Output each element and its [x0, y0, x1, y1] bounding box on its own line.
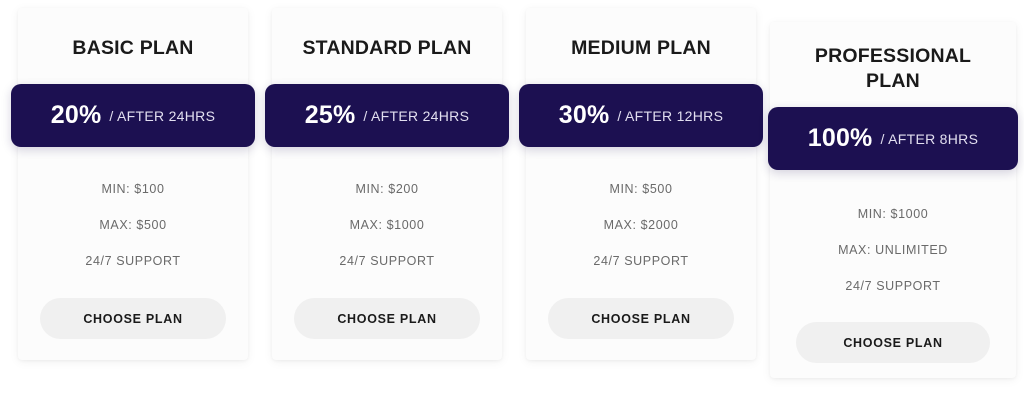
pricing-plans-container: BASIC PLAN 20% / AFTER 24HRS MIN: $100 M… — [0, 0, 1024, 402]
plan-price-badge: 20% / AFTER 24HRS — [11, 84, 255, 147]
plan-feature-min: MIN: $100 — [18, 180, 248, 198]
plan-price-amount: 25% — [305, 101, 356, 130]
choose-plan-button[interactable]: CHOOSE PLAN — [796, 322, 990, 363]
plan-title: PROFESSIONAL PLAN — [770, 44, 1016, 94]
plan-price-badge: 100% / AFTER 8HRS — [768, 107, 1018, 170]
plan-card-professional[interactable]: PROFESSIONAL PLAN 100% / AFTER 8HRS MIN:… — [770, 22, 1016, 378]
plan-feature-support: 24/7 SUPPORT — [526, 252, 756, 270]
plan-feature-min: MIN: $500 — [526, 180, 756, 198]
plan-price-badge: 30% / AFTER 12HRS — [519, 84, 763, 147]
plan-price-amount: 100% — [808, 124, 873, 153]
plan-feature-support: 24/7 SUPPORT — [272, 252, 502, 270]
plan-feature-list: MIN: $1000 MAX: UNLIMITED 24/7 SUPPORT — [770, 205, 1016, 295]
plan-feature-max: MAX: $2000 — [526, 216, 756, 234]
plan-feature-support: 24/7 SUPPORT — [770, 277, 1016, 295]
plan-feature-list: MIN: $500 MAX: $2000 24/7 SUPPORT — [526, 180, 756, 270]
plan-feature-max: MAX: $1000 — [272, 216, 502, 234]
plan-price-badge: 25% / AFTER 24HRS — [265, 84, 509, 147]
plan-feature-min: MIN: $1000 — [770, 205, 1016, 223]
plan-feature-max: MAX: UNLIMITED — [770, 241, 1016, 259]
plan-feature-max: MAX: $500 — [18, 216, 248, 234]
plan-price-period: / AFTER 24HRS — [363, 108, 469, 124]
plan-title: STANDARD PLAN — [272, 36, 502, 61]
plan-feature-support: 24/7 SUPPORT — [18, 252, 248, 270]
choose-plan-button[interactable]: CHOOSE PLAN — [294, 298, 480, 339]
plan-price-amount: 20% — [51, 101, 102, 130]
plan-price-period: / AFTER 12HRS — [617, 108, 723, 124]
plan-card-basic[interactable]: BASIC PLAN 20% / AFTER 24HRS MIN: $100 M… — [18, 8, 248, 360]
plan-price-period: / AFTER 8HRS — [881, 131, 979, 147]
choose-plan-button[interactable]: CHOOSE PLAN — [548, 298, 734, 339]
plan-title: MEDIUM PLAN — [526, 36, 756, 61]
plan-price-amount: 30% — [559, 101, 610, 130]
plan-title: BASIC PLAN — [18, 36, 248, 61]
choose-plan-button[interactable]: CHOOSE PLAN — [40, 298, 226, 339]
plan-feature-min: MIN: $200 — [272, 180, 502, 198]
plan-card-standard[interactable]: STANDARD PLAN 25% / AFTER 24HRS MIN: $20… — [272, 8, 502, 360]
plan-feature-list: MIN: $200 MAX: $1000 24/7 SUPPORT — [272, 180, 502, 270]
plan-card-medium[interactable]: MEDIUM PLAN 30% / AFTER 12HRS MIN: $500 … — [526, 8, 756, 360]
plan-feature-list: MIN: $100 MAX: $500 24/7 SUPPORT — [18, 180, 248, 270]
plan-price-period: / AFTER 24HRS — [109, 108, 215, 124]
